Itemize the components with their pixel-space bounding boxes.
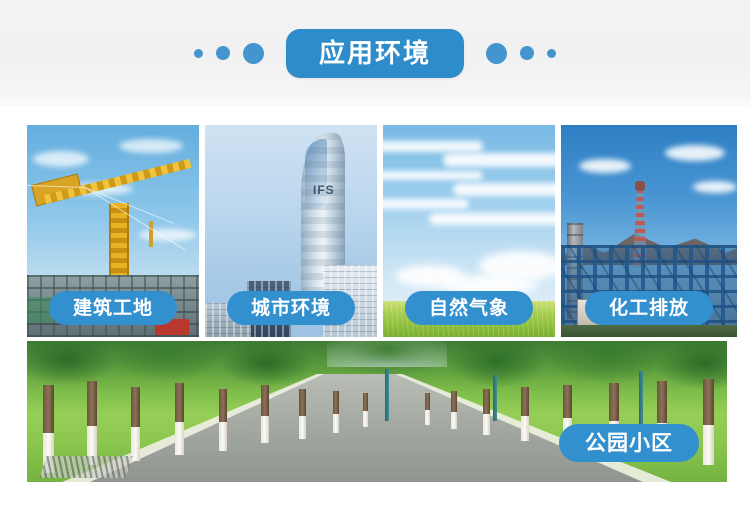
tile-label-text: 自然气象 (429, 299, 509, 318)
banner-label-text: 公园小区 (585, 433, 673, 454)
building-sign: IFS (313, 183, 335, 197)
page-title: 应用环境 (319, 40, 431, 66)
header-band: 应用环境 (0, 0, 750, 106)
tile-label-pill: 城市环境 (227, 291, 355, 325)
dot-large-icon (486, 43, 507, 64)
dot-medium-icon (520, 46, 534, 60)
banner-label-pill: 公园小区 (559, 424, 699, 462)
lamp-post (493, 375, 497, 421)
scenario-tiles-row: 建筑工地 IFS 城市环境 (27, 125, 727, 337)
drain-grating (39, 456, 132, 478)
dot-large-icon (243, 43, 264, 64)
tile-label-text: 城市环境 (251, 299, 331, 318)
scenario-tile-natural-weather[interactable]: 自然气象 (383, 125, 555, 337)
tower-top-cap (635, 181, 645, 191)
lamp-post (385, 369, 389, 421)
tile-label-pill: 建筑工地 (49, 291, 177, 325)
tile-label-pill: 化工排放 (585, 291, 713, 325)
scenario-tile-city-environment[interactable]: IFS 城市环境 (205, 125, 377, 337)
dot-small-icon (547, 49, 556, 58)
scenario-banner-park-community[interactable]: 公园小区 (27, 341, 727, 482)
application-environment-page: 应用环境 (0, 0, 750, 517)
decorative-dots-right (486, 43, 556, 64)
tile-label-text: 建筑工地 (73, 299, 153, 318)
scenario-tile-chemical-emissions[interactable]: 化工排放 (561, 125, 737, 337)
tile-label-text: 化工排放 (609, 299, 689, 318)
dot-medium-icon (216, 46, 230, 60)
tile-label-pill: 自然气象 (405, 291, 533, 325)
decorative-dots-left (194, 43, 264, 64)
crane-hook (149, 221, 153, 247)
page-title-pill: 应用环境 (286, 29, 464, 78)
plant-ground (561, 325, 737, 337)
scenario-tile-construction-site[interactable]: 建筑工地 (27, 125, 199, 337)
header-content: 应用环境 (0, 0, 750, 106)
dot-small-icon (194, 49, 203, 58)
